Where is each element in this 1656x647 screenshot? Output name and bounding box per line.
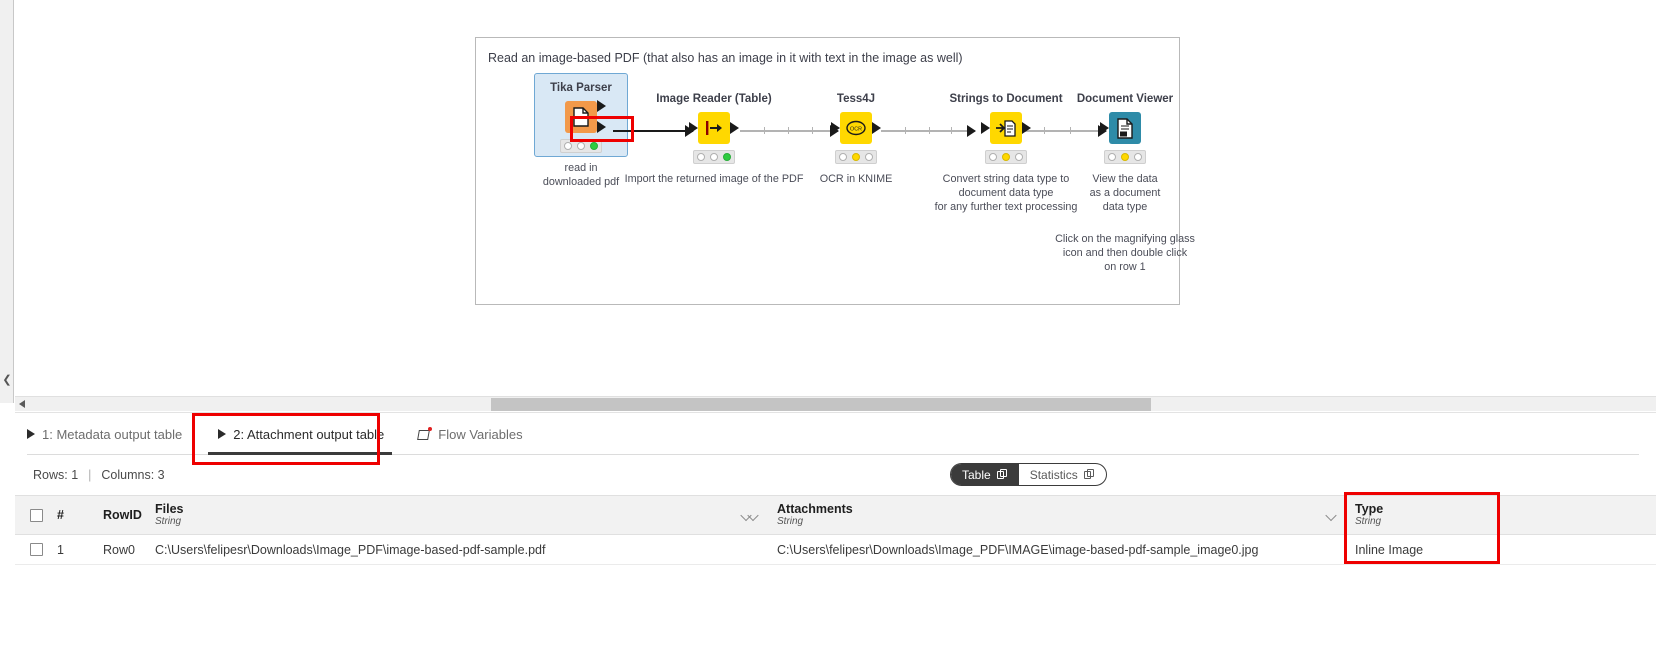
port-in-icon	[981, 122, 990, 134]
tika-parser-node-icon[interactable]	[565, 101, 597, 133]
workflow-hint-text: Click on the magnifying glass icon and t…	[1043, 232, 1207, 274]
triangle-right-icon	[27, 429, 35, 439]
table-row[interactable]: 1 Row0 C:\Users\felipesr\Downloads\Image…	[15, 535, 1656, 565]
data-table: # RowID Files String Attachments String …	[15, 495, 1656, 565]
meta-separator: |	[88, 468, 91, 482]
port-out-icon	[730, 122, 739, 134]
port-out-icon	[872, 122, 881, 134]
view-mode-toggle[interactable]: Table Statistics	[950, 463, 1107, 486]
port-out-icon	[1022, 122, 1031, 134]
tika-parser-status-lamps	[560, 139, 602, 153]
left-gutter: ❮	[0, 0, 14, 403]
node-document-viewer[interactable]: Document Viewer View the data as a docum…	[1061, 93, 1189, 214]
node-tika-parser[interactable]: Tika Parser read in downloaded pdf	[536, 82, 626, 189]
port-out-bottom-icon	[597, 121, 606, 133]
port-in-icon	[831, 122, 840, 134]
triangle-right-icon	[218, 429, 226, 439]
node-image-reader[interactable]: Image Reader (Table) Import the returned…	[623, 93, 805, 186]
cell-attachments: C:\Users\felipesr\Downloads\Image_PDF\IM…	[771, 543, 1349, 557]
type-column-menu-icon[interactable]	[1327, 512, 1338, 519]
scroll-left-arrow-icon[interactable]	[19, 400, 25, 408]
node-image-reader-description: Import the returned image of the PDF	[623, 172, 805, 186]
document-viewer-status-lamps	[1104, 150, 1146, 164]
strings-to-document-status-lamps	[985, 150, 1027, 164]
collapse-panel-icon[interactable]: ❮	[2, 372, 12, 388]
flow-variable-icon	[418, 428, 431, 441]
header-cell-attachments[interactable]: Attachments String	[771, 496, 1349, 534]
tess4j-status-lamps	[835, 150, 877, 164]
attachments-column-menu-icon[interactable]	[749, 512, 760, 519]
node-document-viewer-label: Document Viewer	[1061, 93, 1189, 105]
output-panel: 1: Metadata output table 2: Attachment o…	[15, 412, 1656, 647]
node-tika-parser-label: Tika Parser	[536, 82, 626, 94]
canvas-horizontal-scrollbar[interactable]	[15, 396, 1656, 411]
toggle-table-label: Table	[962, 468, 991, 482]
port-in-icon	[689, 122, 698, 134]
strings-to-document-node-icon[interactable]	[990, 112, 1022, 144]
header-cell-files[interactable]: Files String	[149, 496, 771, 534]
insert-document-glyph-icon	[995, 119, 1017, 138]
image-reader-status-lamps	[693, 150, 735, 164]
tab-flow-variables-label: Flow Variables	[438, 427, 522, 442]
tab-metadata-output-table-label: 1: Metadata output table	[42, 427, 182, 442]
toggle-statistics-view[interactable]: Statistics	[1019, 464, 1106, 485]
node-tess4j-description: OCR in KNIME	[805, 172, 907, 186]
ocr-glyph-icon: OCR	[845, 119, 867, 137]
toggle-table-view[interactable]: Table	[951, 464, 1019, 485]
detach-statistics-icon[interactable]	[1084, 469, 1095, 480]
header-cell-type[interactable]: Type String	[1349, 496, 1589, 534]
node-tess4j-label: Tess4J	[805, 93, 907, 105]
tab-attachment-output-table[interactable]: 2: Attachment output table	[218, 413, 384, 455]
workflow-canvas[interactable]: Read an image-based PDF (that also has a…	[15, 0, 1656, 395]
node-document-viewer-description: View the data as a document data type	[1061, 172, 1189, 214]
scrollbar-thumb[interactable]	[491, 398, 1151, 411]
port-in-icon	[1100, 122, 1109, 134]
tab-flow-variables[interactable]: Flow Variables	[418, 413, 522, 455]
workflow-annotation-title: Read an image-based PDF (that also has a…	[488, 51, 963, 65]
node-tika-parser-description: read in downloaded pdf	[536, 161, 626, 189]
document-view-glyph-icon	[1115, 118, 1135, 139]
output-tab-bar: 1: Metadata output table 2: Attachment o…	[15, 413, 1656, 455]
image-reader-node-icon[interactable]	[698, 112, 730, 144]
header-cell-rowid[interactable]: RowID	[103, 496, 149, 534]
table-header-row: # RowID Files String Attachments String …	[15, 495, 1656, 535]
cell-type: Inline Image	[1349, 543, 1589, 557]
detach-table-icon[interactable]	[997, 469, 1008, 480]
select-all-checkbox[interactable]	[30, 509, 43, 522]
document-glyph-icon	[572, 107, 590, 127]
tab-metadata-output-table[interactable]: 1: Metadata output table	[27, 413, 182, 455]
columns-count-label: Columns: 3	[101, 468, 164, 482]
select-all-checkbox-cell[interactable]	[15, 496, 57, 534]
document-viewer-node-icon[interactable]	[1109, 112, 1141, 144]
table-to-image-glyph-icon	[704, 120, 724, 136]
table-meta-row: Rows: 1 | Columns: 3 Table Statistics	[15, 455, 1656, 495]
rows-count-label: Rows: 1	[33, 468, 78, 482]
cell-rowid: Row0	[103, 543, 149, 557]
tess4j-node-icon[interactable]: OCR	[840, 112, 872, 144]
svg-text:OCR: OCR	[850, 127, 862, 133]
toggle-statistics-label: Statistics	[1030, 468, 1078, 482]
row-checkbox-cell[interactable]	[15, 543, 57, 556]
cell-files: C:\Users\felipesr\Downloads\Image_PDF\im…	[149, 543, 771, 557]
row-select-checkbox[interactable]	[30, 543, 43, 556]
knime-output-view: ❮ Read an image-based PDF (that also has…	[0, 0, 1656, 647]
port-out-top-icon	[597, 100, 606, 112]
cell-index: 1	[57, 543, 103, 557]
header-cell-index[interactable]: #	[57, 496, 103, 534]
node-image-reader-label: Image Reader (Table)	[623, 93, 805, 105]
tab-attachment-output-table-label: 2: Attachment output table	[233, 427, 384, 442]
node-tess4j[interactable]: Tess4J OCR OCR in KNIME	[805, 93, 907, 186]
